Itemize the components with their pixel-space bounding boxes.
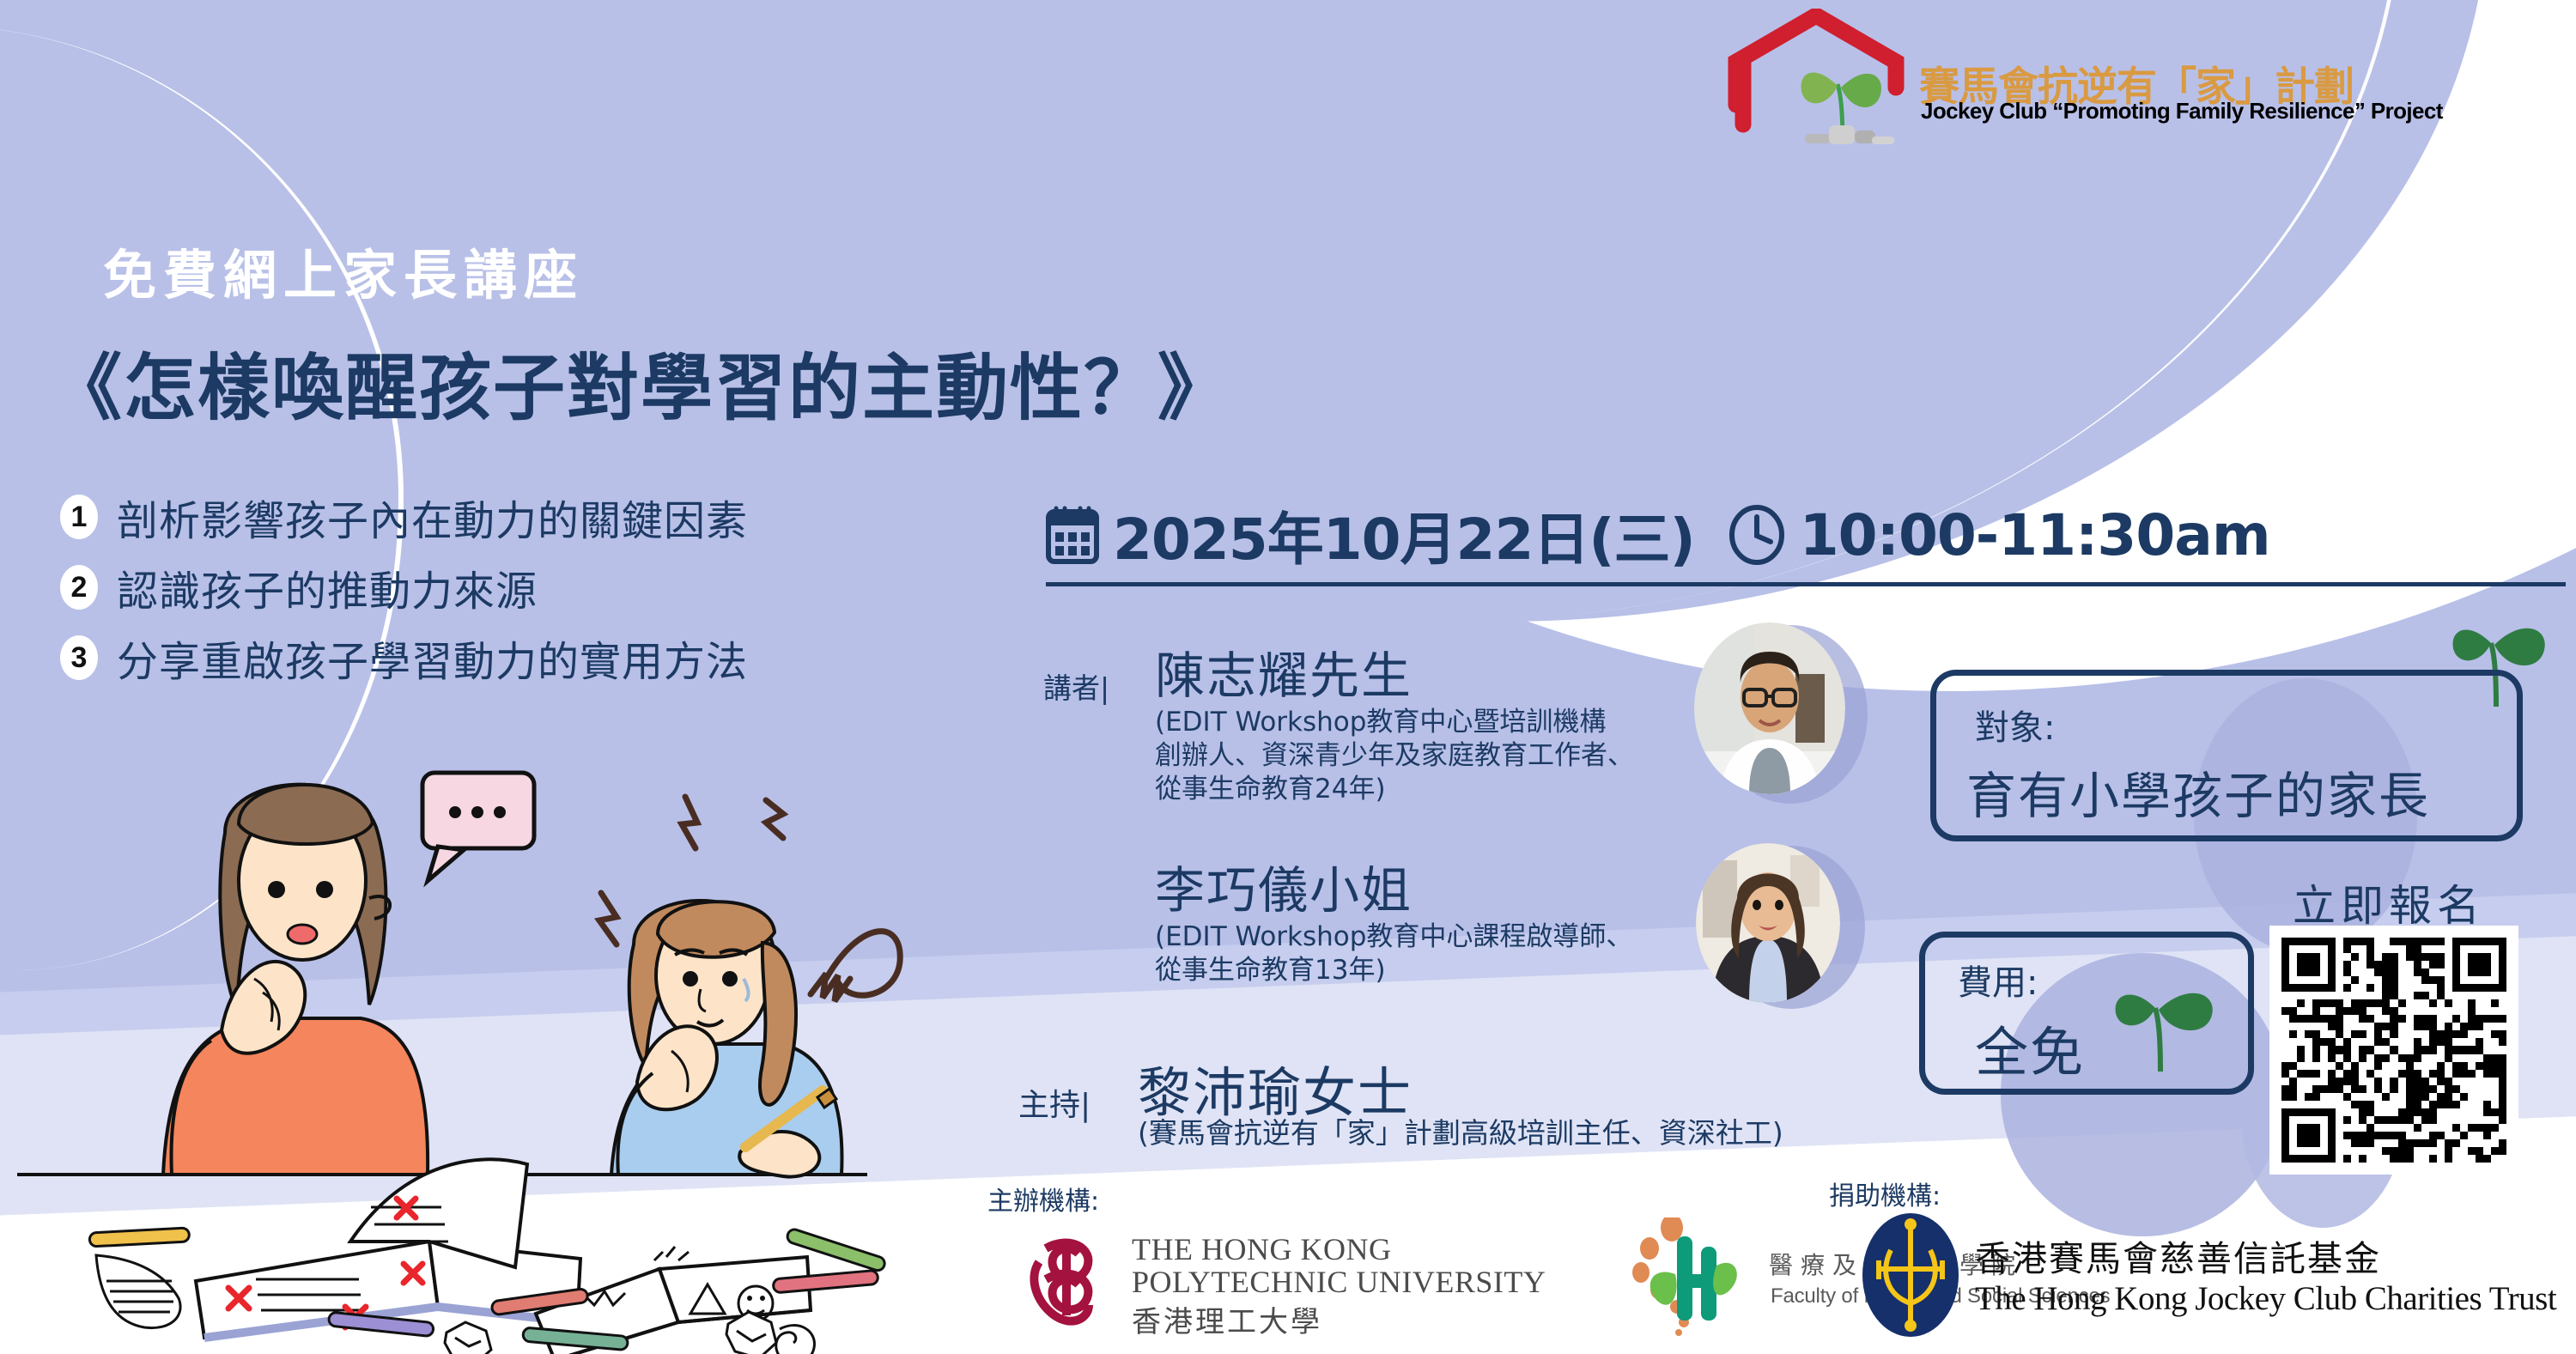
hkjc-roundel-logo-icon [1855, 1211, 1966, 1339]
polyu-knot-logo-icon [1020, 1230, 1115, 1333]
polyu-name-line1: THE HONG KONG [1132, 1231, 1391, 1267]
avatar [1696, 843, 1840, 1003]
funder-label: 捐助機構: [1829, 1175, 1941, 1212]
page-title: 《怎樣喚醒孩子對學習的主動性？》 [50, 331, 1231, 434]
hkjc-name-zh: 香港賽馬會慈善信託基金 [1975, 1230, 2381, 1281]
event-date: 2025年10月22日(三) [1113, 494, 1695, 576]
list-item-number: 3 [60, 635, 98, 680]
qr-code-icon[interactable] [2269, 926, 2518, 1175]
qr-code-matrix [2281, 938, 2506, 1163]
list-item-label: 認識孩子的推動力來源 [117, 557, 538, 617]
list-item-label: 分享重啟孩子學習動力的實用方法 [117, 628, 748, 688]
list-item: 3 分享重啟孩子學習動力的實用方法 [60, 626, 748, 689]
event-time: 10:00-11:30am [1800, 502, 2270, 568]
fee-value: 全免 [1975, 1009, 2085, 1086]
speaker-2-bio: (EDIT Workshop教育中心課程啟導師、 從事生命教育13年) [1155, 920, 1632, 987]
list-item: 1 剖析影響孩子內在動力的關鍵因素 [60, 485, 748, 549]
target-audience-value: 育有小學孩子的家長 [1966, 756, 2430, 828]
page-kicker: 免費網上家長講座 [103, 232, 584, 309]
polyu-name-zh: 香港理工大學 [1132, 1298, 1322, 1340]
target-audience-label: 對象: [1975, 700, 2055, 750]
list-item-label: 剖析影響孩子內在動力的關鍵因素 [117, 487, 748, 547]
logo-title-en: Jockey Club “Promoting Family Resilience… [1921, 98, 2443, 124]
speaker-1-name: 陳志耀先生 [1155, 635, 1413, 707]
sprout-icon [1786, 52, 1906, 146]
highlights-list: 1 剖析影響孩子內在動力的關鍵因素 2 認識孩子的推動力來源 3 分享重啟孩子學… [60, 485, 748, 696]
register-now-label: 立即報名 [2293, 871, 2485, 933]
list-item-number: 2 [60, 565, 98, 610]
faculty-health-social-sciences-logo-icon [1627, 1217, 1756, 1338]
speaker-label: 講者| [1043, 665, 1109, 707]
list-item-number: 1 [60, 495, 98, 539]
clock-icon [1728, 505, 1786, 565]
host-bio: (賽馬會抗逆有「家」計劃高級培訓主任、資深社工) [1138, 1116, 1783, 1150]
polyu-name-line2: POLYTECHNIC UNIVERSITY [1132, 1264, 1546, 1300]
avatar [1694, 622, 1845, 794]
host-label: 主持| [1018, 1080, 1091, 1125]
fee-label: 費用: [1958, 955, 2038, 1005]
speaker-1-bio: (EDIT Workshop教育中心暨培訓機構 創辦人、資深青少年及家庭教育工作… [1155, 706, 1634, 806]
datetime-divider [1046, 582, 2566, 586]
organiser-label: 主辦機構: [987, 1180, 1099, 1217]
jockey-club-project-logo: 賽馬會抗逆有「家」計劃 Jockey Club “Promoting Famil… [1683, 9, 2567, 137]
event-datetime: 2025年10月22日(三) 10:00-11:30am [1046, 494, 2270, 576]
list-item: 2 認識孩子的推動力來源 [60, 556, 748, 619]
host-name: 黎沛瑜女士 [1138, 1049, 1413, 1126]
hkjc-name-en: The Hong Kong Jockey Club Charities Trus… [1975, 1279, 2556, 1318]
two-girls-studying-illustration [0, 721, 987, 1354]
calendar-icon [1046, 505, 1099, 565]
poster-canvas: 賽馬會抗逆有「家」計劃 Jockey Club “Promoting Famil… [0, 0, 2576, 1354]
speaker-2-name: 李巧儀小姐 [1155, 850, 1413, 922]
